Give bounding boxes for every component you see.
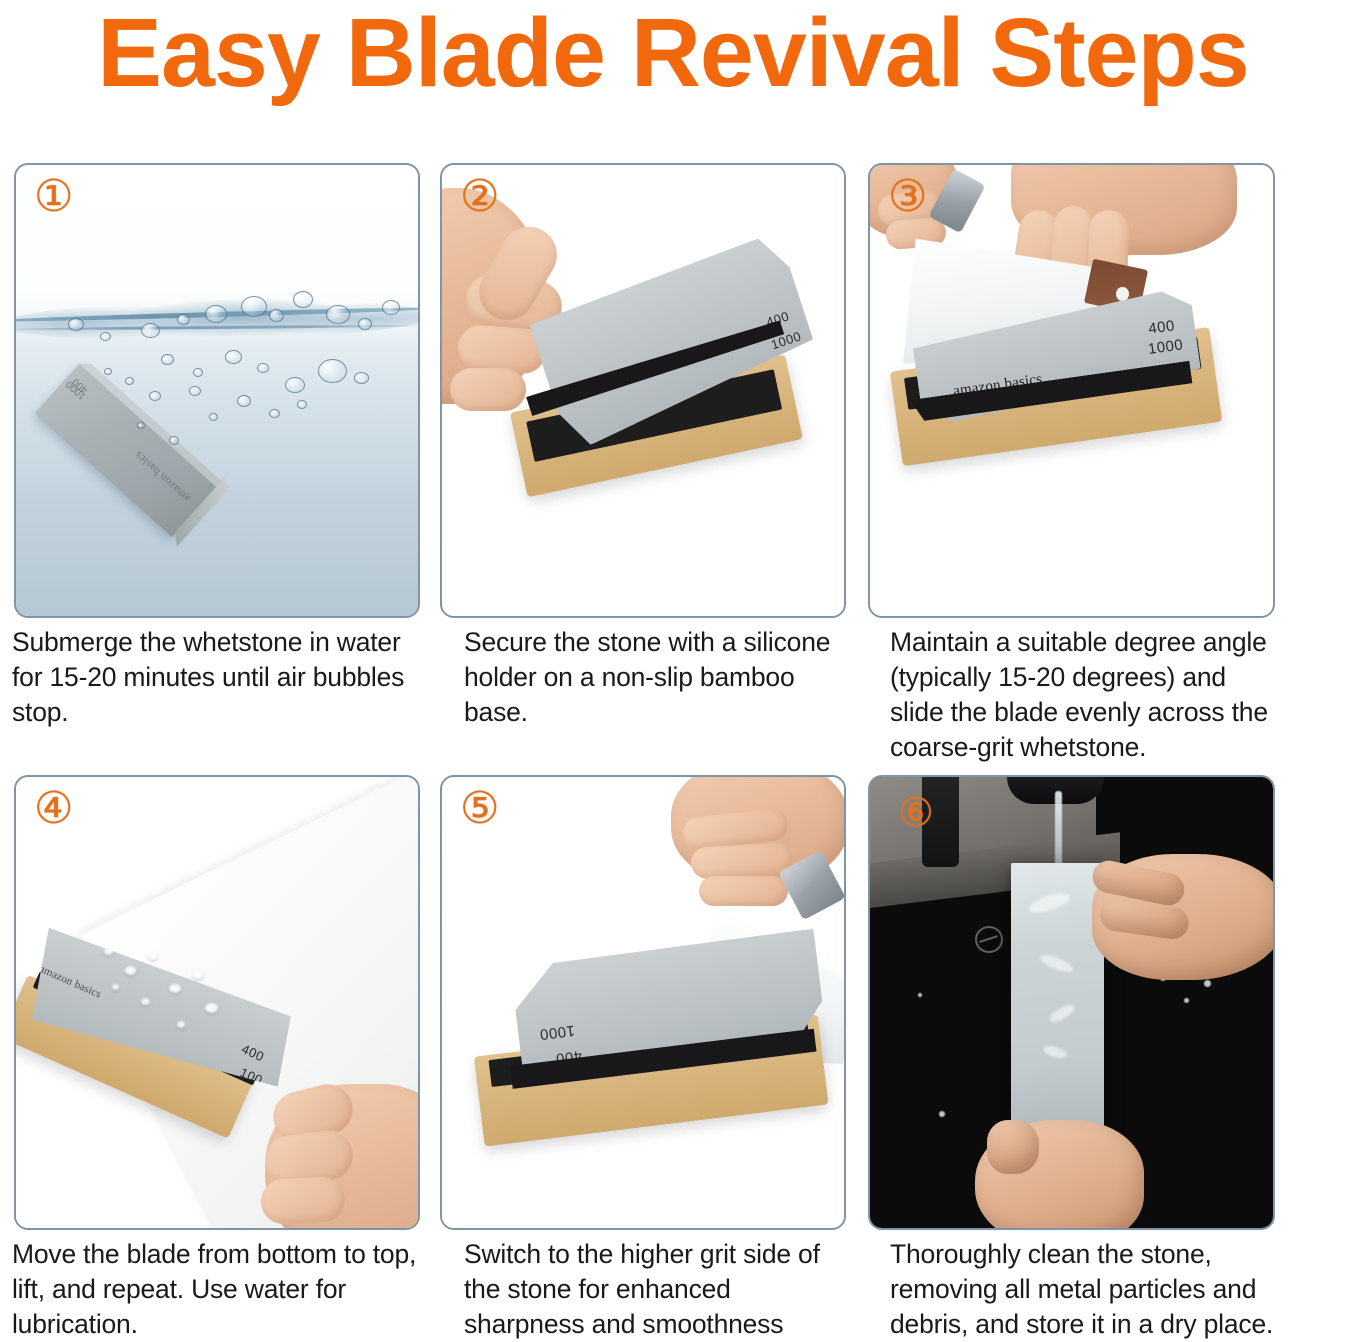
thumb (987, 1120, 1039, 1174)
step-badge-4: ④ (34, 787, 73, 831)
water-droplet (939, 1111, 945, 1117)
step-card-2: amazon basics 400 1000 ② (440, 163, 846, 618)
bubble (225, 350, 242, 364)
bubble (177, 314, 190, 325)
bubble (205, 305, 227, 323)
finger (690, 842, 792, 879)
bubble (193, 368, 203, 377)
step-badge-5: ⑤ (460, 787, 499, 831)
bubble (269, 409, 280, 418)
bubble (209, 413, 218, 421)
bubble-on-stone (169, 436, 179, 445)
step-badge-3: ③ (888, 175, 927, 219)
step-caption-5: Switch to the higher grit side of the st… (464, 1237, 856, 1342)
water-droplet (193, 971, 203, 979)
bubble (318, 359, 347, 383)
step-card-4: amazon basics 400 100 (14, 775, 420, 1230)
knife-rivet (1116, 287, 1129, 301)
bubble (326, 305, 350, 324)
water-droplet (205, 1003, 218, 1013)
scene-5: 1000 400 amazon basics (442, 777, 844, 1228)
step-badge-1: ① (34, 175, 73, 219)
scene-4: amazon basics 400 100 (16, 777, 418, 1228)
water-sheen (1038, 952, 1075, 976)
water-sheen (1042, 1044, 1068, 1060)
bubble (241, 296, 267, 317)
step-card-1: amazon basics 400 1000 ① (14, 163, 420, 618)
water-sheen (1047, 1002, 1077, 1026)
bubble-on-stone (137, 422, 145, 429)
step-caption-4: Move the blade from bottom to top, lift,… (12, 1237, 422, 1342)
water-droplet (177, 1021, 185, 1028)
scene-3: amazon basics 400 1000 (870, 165, 1273, 616)
step-card-5: 1000 400 amazon basics ⑤ (440, 775, 846, 1230)
step-image-panel-6: ⑥ (868, 775, 1275, 1230)
finger (450, 368, 526, 411)
step-image-panel-3: amazon basics 400 1000 ③ (868, 163, 1275, 618)
bubble (297, 400, 307, 409)
bubble (141, 323, 160, 338)
step-badge-6: ⑥ (898, 791, 934, 835)
step-caption-3: Maintain a suitable degree angle (typica… (890, 625, 1280, 765)
water-sheen (1027, 890, 1072, 916)
step-card-3: amazon basics 400 1000 ③ (868, 163, 1275, 618)
bubble-on-stone (149, 391, 161, 401)
water-droplet (141, 998, 150, 1005)
sink-brand-logo-icon (975, 926, 1003, 953)
step-image-panel-5: 1000 400 amazon basics ⑤ (440, 775, 846, 1230)
finger (699, 876, 787, 905)
step-image-panel-1: amazon basics 400 1000 ① (14, 163, 420, 618)
step-image-panel-4: amazon basics 400 100 (14, 775, 420, 1230)
step-caption-2: Secure the stone with a silicone holder … (464, 625, 852, 730)
scene-2: amazon basics 400 1000 (442, 165, 844, 616)
step-caption-1: Submerge the whetstone in water for 15-2… (12, 625, 422, 730)
finger (260, 1176, 347, 1225)
bubble (237, 395, 251, 407)
step-image-panel-2: amazon basics 400 1000 ② (440, 163, 846, 618)
bubble-on-stone (125, 377, 134, 385)
bubble (189, 386, 201, 396)
steps-grid: amazon basics 400 1000 ① Submerge the wh… (0, 0, 1346, 1331)
water-droplet (149, 953, 157, 960)
step-card-6: ⑥ (868, 775, 1275, 1230)
whetstone (1011, 863, 1104, 1143)
step-caption-6: Thoroughly clean the stone, removing all… (890, 1237, 1290, 1342)
bubble (358, 318, 372, 330)
water-droplet (125, 966, 136, 975)
step-badge-2: ② (460, 175, 499, 219)
